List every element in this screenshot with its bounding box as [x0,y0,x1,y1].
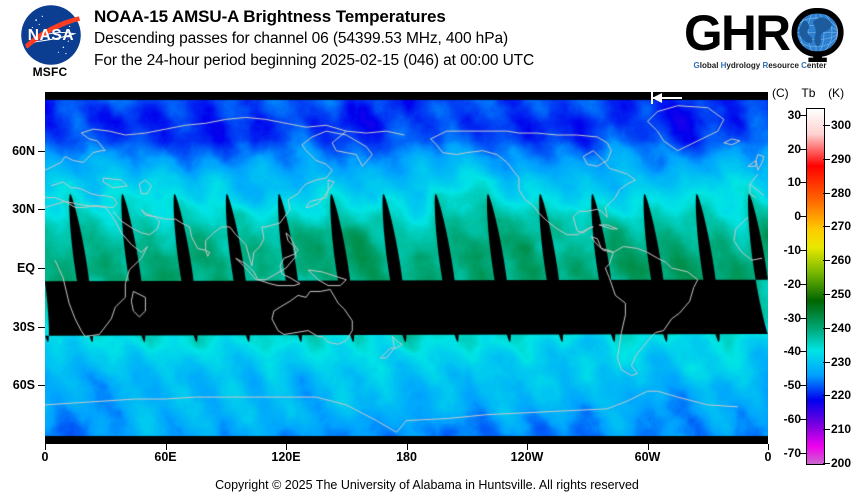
colorbar-kelvin-label: 200 [831,458,854,468]
copyright-footer: Copyright © 2025 The University of Alaba… [0,478,854,492]
latitude-label: 60S [0,379,35,391]
ghrc-logo: GHR Global Hydrology Resource Center [684,6,844,80]
latitude-axis: 60N30NEQ30S60S [0,92,45,444]
colorbar-kelvin-tick [823,395,830,396]
ghrc-wordmark-icon: GHR [684,6,844,62]
colorbar-kelvin-label: 220 [831,390,854,400]
colorbar-celsius-label: -10 [771,245,801,255]
colorbar-kelvin-tick [823,294,830,295]
svg-text:GHR: GHR [684,6,790,61]
longitude-label: 60E [136,450,196,464]
colorbar-kelvin-tick [823,159,830,160]
colorbar-celsius-label: 30 [771,110,801,120]
latitude-tick [38,268,45,269]
colorbar-celsius-label: -20 [771,279,801,289]
colorbar-kelvin-label: 250 [831,289,854,299]
colorbar-kelvin-label: 240 [831,323,854,333]
page-title: NOAA-15 AMSU-A Brightness Temperatures [94,6,694,28]
latitude-label: 30S [0,321,35,333]
colorbar-kelvin-label: 290 [831,154,854,164]
longitude-label: 60W [618,450,678,464]
period-subtitle: For the 24-hour period beginning 2025-02… [94,50,694,72]
longitude-label: 180 [377,450,437,464]
latitude-tick [38,385,45,386]
colorbar: (C) Tb (K) 3020100-10-20-30-40-50-60-703… [772,86,854,466]
brightness-temperature-map[interactable] [45,92,768,444]
colorbar-gradient [806,108,825,465]
ghrc-tagline: Global Hydrology Resource Center [684,61,836,70]
colorbar-kelvin-tick [823,260,830,261]
colorbar-kelvin-label: 260 [831,255,854,265]
map-raster [45,92,768,444]
colorbar-kelvin-tick [823,328,830,329]
title-block: NOAA-15 AMSU-A Brightness Temperatures D… [94,6,694,72]
longitude-label: 120E [256,450,316,464]
colorbar-celsius-label: -60 [771,414,801,424]
longitude-axis: 060E120E180120W60W0 [0,444,854,466]
latitude-tick [38,327,45,328]
colorbar-celsius-label: -70 [771,448,801,458]
colorbar-header: (C) Tb (K) [772,86,854,100]
colorbar-kelvin-tick [823,125,830,126]
colorbar-kelvin-tick [823,226,830,227]
colorbar-celsius-label: 20 [771,144,801,154]
colorbar-kelvin-tick [823,362,830,363]
colorbar-kelvin-label: 300 [831,120,854,130]
longitude-label: 0 [15,450,75,464]
latitude-tick [38,209,45,210]
pass-direction-arrow-icon [650,90,684,106]
colorbar-celsius-label: -40 [771,346,801,356]
colorbar-celsius-label: 0 [771,211,801,221]
colorbar-celsius-label: -50 [771,380,801,390]
nasa-meatball-icon: NASA [20,4,82,66]
colorbar-celsius-unit: (C) [772,86,789,100]
colorbar-kelvin-label: 210 [831,424,854,434]
colorbar-celsius-label: -30 [771,313,801,323]
latitude-label: 30N [0,203,35,215]
page-header: NASA MSFC NOAA-15 AMSU-A Brightness Temp… [0,0,854,88]
colorbar-kelvin-tick [823,193,830,194]
nasa-logo: NASA MSFC [14,4,86,84]
svg-text:NASA: NASA [28,27,74,44]
colorbar-kelvin-label: 270 [831,221,854,231]
colorbar-kelvin-label: 280 [831,188,854,198]
colorbar-kelvin-label: 230 [831,357,854,367]
colorbar-kelvin-unit: (K) [828,86,844,100]
latitude-tick [38,151,45,152]
colorbar-kelvin-tick [823,463,830,464]
colorbar-celsius-label: 10 [771,177,801,187]
nasa-center-label: MSFC [14,65,86,79]
latitude-label: 60N [0,145,35,157]
latitude-label: EQ [0,262,35,274]
longitude-label: 120W [497,450,557,464]
channel-subtitle: Descending passes for channel 06 (54399.… [94,28,694,50]
colorbar-variable: Tb [801,86,815,100]
colorbar-kelvin-tick [823,429,830,430]
